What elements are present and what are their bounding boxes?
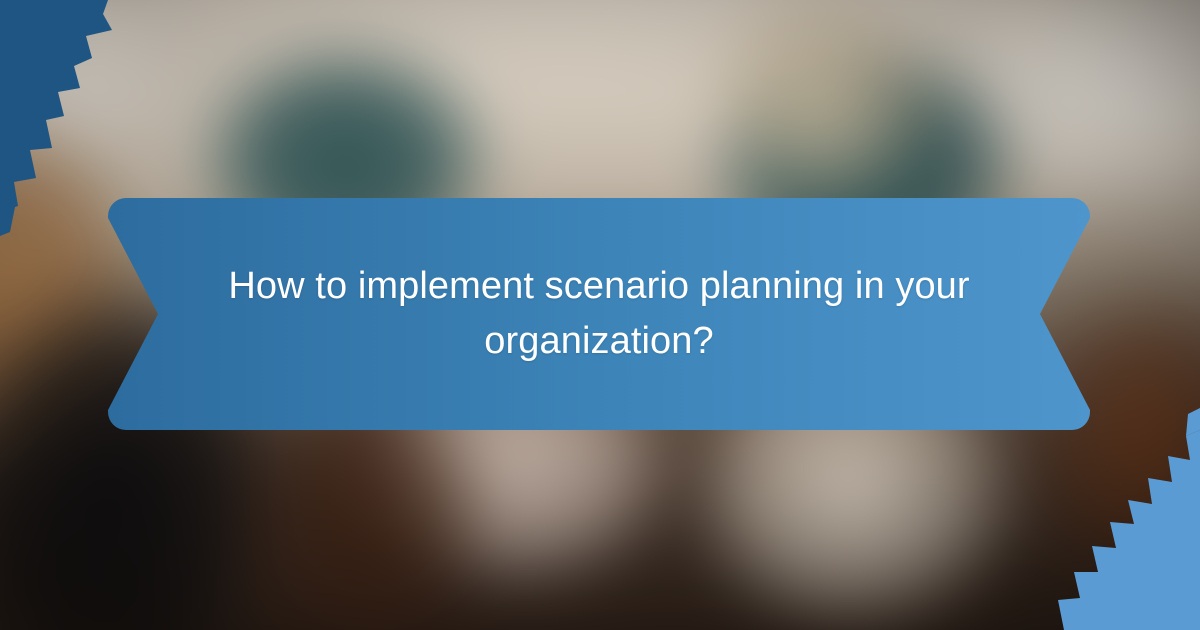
page-title: How to implement scenario planning in yo… [220,259,978,369]
banner-card: How to implement scenario planning in yo… [0,0,1200,630]
title-banner: How to implement scenario planning in yo… [108,198,1090,430]
banner-text-area: How to implement scenario planning in yo… [108,198,1090,430]
